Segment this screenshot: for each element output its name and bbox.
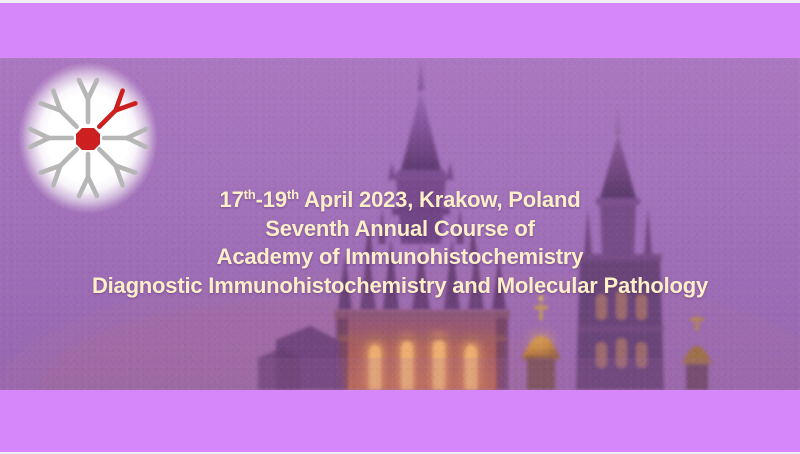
date-month-location: April 2023, Krakow, Poland [299,187,581,212]
conference-banner: 17th-19th April 2023, Krakow, Poland Sev… [0,0,800,454]
date-day-end: -19 [256,187,287,212]
date-ordinal-suffix-2: th [287,187,299,202]
headline-line-topic: Diagnostic Immunohistochemistry and Mole… [0,272,800,301]
antibody-highlighted [93,91,135,133]
headline-line-edition: Seventh Annual Course of [0,215,800,244]
headline-line-organizer: Academy of Immunohistochemistry [0,243,800,272]
banner-top-band [0,3,800,58]
antigen-dot [76,128,100,150]
banner-bottom-band [0,390,800,452]
headline-line-date: 17th-19th April 2023, Krakow, Poland [0,186,800,215]
date-day-start: 17 [220,187,244,212]
date-ordinal-suffix-1: th [244,187,256,202]
headline-block: 17th-19th April 2023, Krakow, Poland Sev… [0,186,800,300]
